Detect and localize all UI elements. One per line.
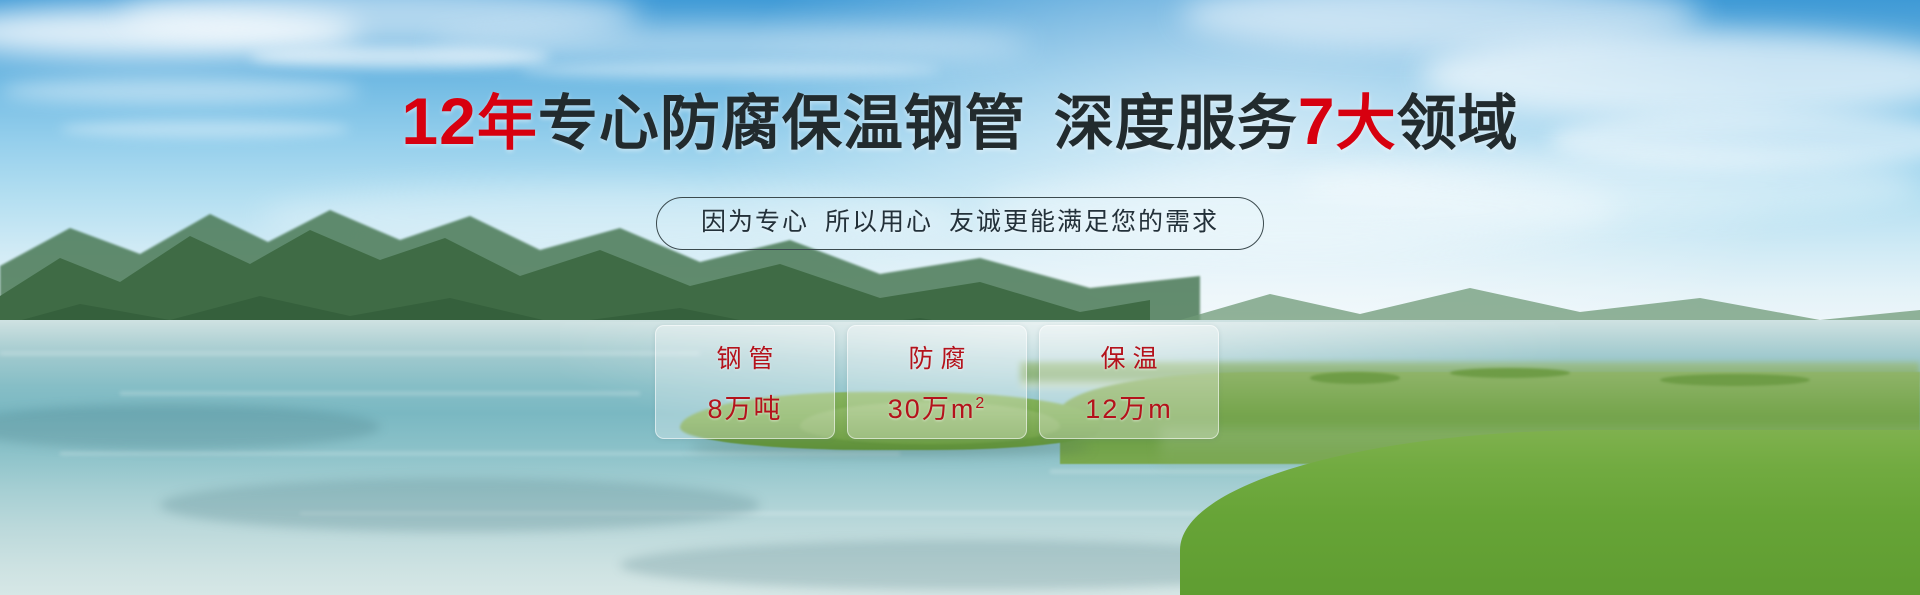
stat-card-anticorrosion[interactable]: 防腐 30万m2 bbox=[847, 325, 1027, 439]
stat-card-title: 防腐 bbox=[901, 339, 972, 375]
subtitle-pill: 因为专心所以用心友诚更能满足您的需求 bbox=[656, 197, 1264, 250]
small-islet bbox=[1310, 372, 1400, 384]
small-islet bbox=[1450, 368, 1570, 378]
cloud-shape bbox=[430, 24, 1030, 64]
water-ripple bbox=[0, 352, 700, 355]
headline-fields-text: 领域 bbox=[1397, 90, 1519, 157]
subtitle-part-2: 所以用心 bbox=[825, 208, 933, 236]
headline-main-text: 专心防腐保温钢管 bbox=[538, 90, 1026, 157]
subtitle-part-3: 友诚更能满足您的需求 bbox=[949, 208, 1219, 236]
stat-card-title: 钢管 bbox=[709, 339, 780, 375]
cloud-shape bbox=[520, 62, 940, 78]
water-shadow bbox=[160, 478, 760, 532]
stat-card-value-superscript: 2 bbox=[975, 395, 986, 412]
stat-card-value-base: 30万m bbox=[888, 394, 976, 424]
subtitle-part-1: 因为专心 bbox=[701, 208, 809, 236]
small-islet bbox=[1660, 374, 1810, 386]
hero-banner: 12年专心防腐保温钢管深度服务7大领域 因为专心所以用心友诚更能满足您的需求 钢… bbox=[0, 0, 1920, 595]
stat-card-title: 保温 bbox=[1093, 339, 1164, 375]
stat-cards: 钢管 8万吨 防腐 30万m2 保温 12万m bbox=[655, 325, 1219, 439]
stat-card-value: 30万m2 bbox=[888, 387, 986, 426]
headline-years-number: 12 bbox=[401, 84, 476, 158]
subtitle-container: 因为专心所以用心友诚更能满足您的需求 bbox=[0, 197, 1920, 250]
headline-fields-number: 7 bbox=[1298, 84, 1336, 158]
stat-card-insulation[interactable]: 保温 12万m bbox=[1039, 325, 1219, 439]
stat-card-value: 12万m bbox=[1085, 387, 1173, 426]
page-title: 12年专心防腐保温钢管深度服务7大领域 bbox=[0, 88, 1920, 154]
water-ripple bbox=[120, 392, 640, 395]
headline-years-unit: 年 bbox=[477, 90, 538, 157]
stat-card-value: 8万吨 bbox=[707, 387, 782, 426]
headline-service-text: 深度服务 bbox=[1054, 90, 1298, 157]
stat-card-value-base: 12万m bbox=[1085, 394, 1173, 424]
stat-card-steel-pipe[interactable]: 钢管 8万吨 bbox=[655, 325, 835, 439]
stat-card-value-base: 8万吨 bbox=[707, 394, 782, 424]
headline-fields-unit: 大 bbox=[1336, 90, 1397, 157]
